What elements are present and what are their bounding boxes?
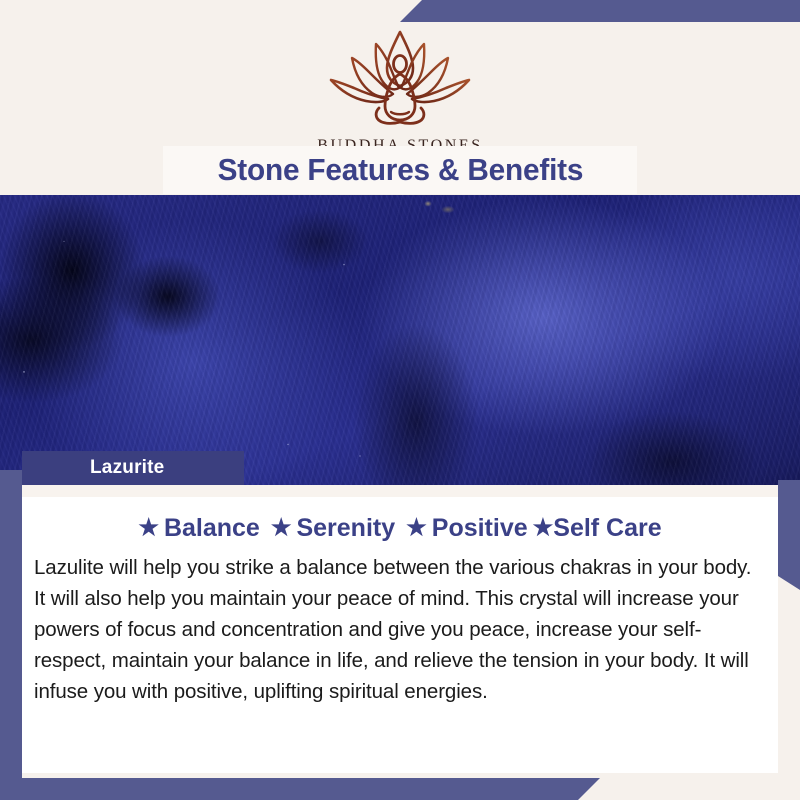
star-icon: ★ <box>138 514 159 541</box>
benefits-list: ★Balance ★Serenity ★Positive ★Self Care <box>22 514 778 543</box>
lotus-meditation-icon <box>0 28 800 135</box>
bottom-left-purple-wedge <box>0 778 600 800</box>
page-title-banner: Stone Features & Benefits <box>163 146 637 194</box>
page-title: Stone Features & Benefits <box>217 152 583 188</box>
benefit-item-2: ★Positive <box>406 514 528 543</box>
poster-root: BUDDHA STONES Stone Features & Benefits … <box>0 0 800 800</box>
header-section: BUDDHA STONES Stone Features & Benefits <box>0 22 800 195</box>
star-icon: ★ <box>533 514 554 541</box>
top-right-purple-wedge <box>400 0 800 22</box>
description-text: Lazulite will help you strike a balance … <box>34 552 756 707</box>
lazurite-stone-photo <box>0 195 800 485</box>
card-top-band <box>22 485 778 497</box>
star-icon: ★ <box>406 514 427 541</box>
stone-name-tag: Lazurite <box>22 451 244 485</box>
star-icon: ★ <box>271 514 292 541</box>
benefit-item-3: ★Self Care <box>533 514 662 543</box>
benefit-label: Serenity <box>296 514 395 543</box>
benefit-label: Self Care <box>553 514 661 543</box>
content-card: ★Balance ★Serenity ★Positive ★Self Care … <box>22 485 778 773</box>
right-purple-strip <box>778 480 800 590</box>
benefit-label: Positive <box>432 514 528 543</box>
brand-logo: BUDDHA STONES <box>0 28 800 155</box>
benefit-item-1: ★Serenity <box>271 514 395 543</box>
left-purple-strip <box>0 470 22 800</box>
benefit-item-0: ★Balance <box>138 514 260 543</box>
benefit-label: Balance <box>164 514 260 543</box>
stone-name: Lazurite <box>90 457 164 479</box>
